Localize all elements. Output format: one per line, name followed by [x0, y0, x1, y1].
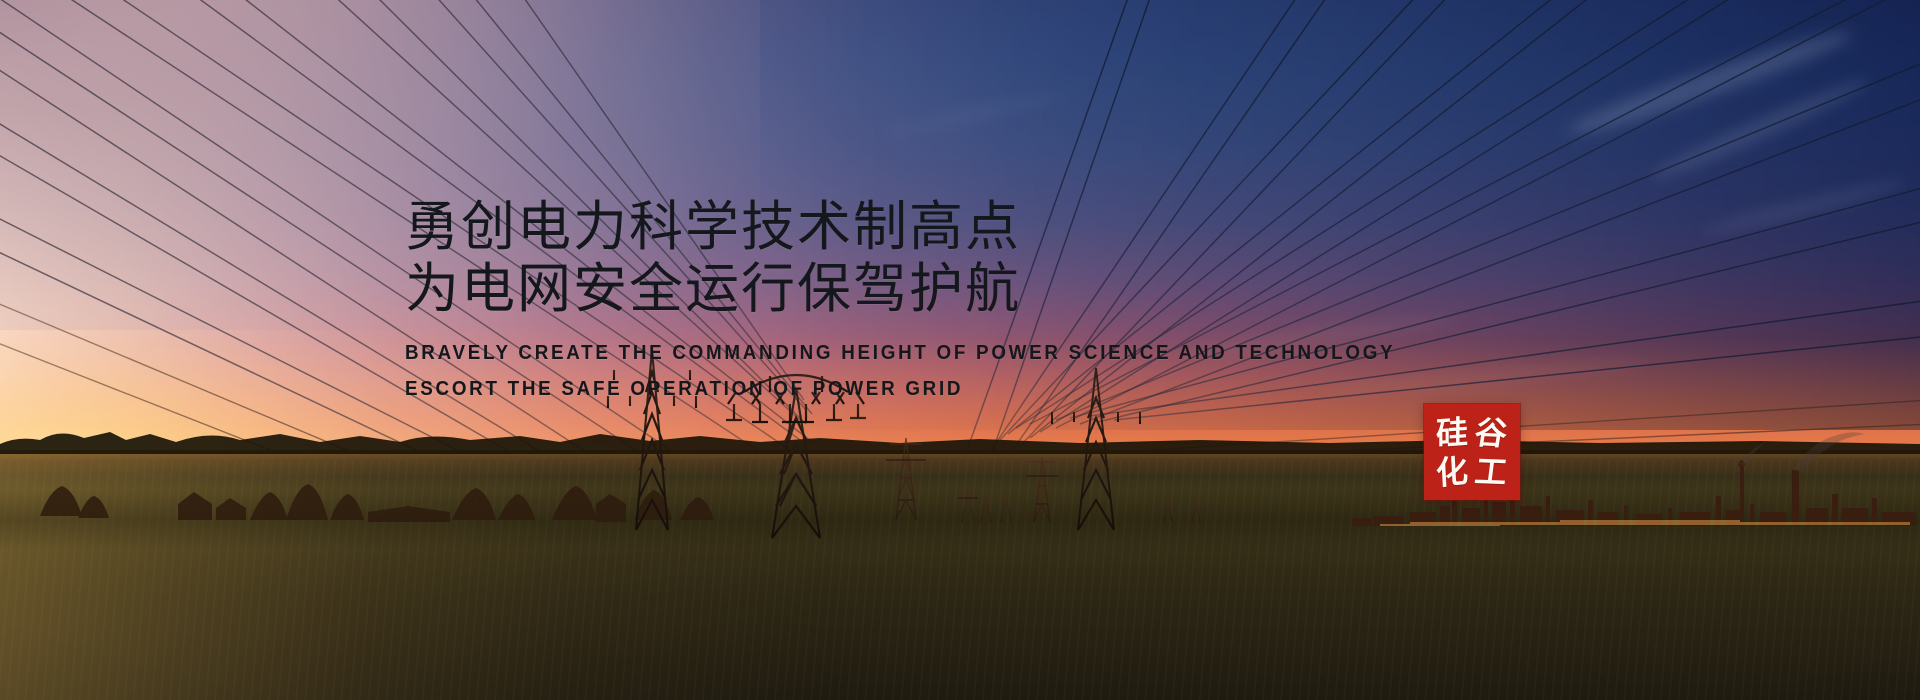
headline-line-2: 为电网安全运行保驾护航 — [405, 258, 1415, 320]
subtitle-line-1: BRAVELY CREATE THE COMMANDING HEIGHT OF … — [405, 336, 1354, 370]
company-logo-stamp[interactable]: 硅 谷 化 工 — [1424, 404, 1520, 500]
distant-transmission-towers — [886, 430, 1203, 522]
village-silhouette — [40, 484, 714, 522]
smokestack-plumes — [1740, 432, 1864, 472]
logo-glyph-4: 工 — [1474, 455, 1510, 488]
distant-poles — [1026, 502, 1206, 521]
subtitle-line-2: ESCORT THE SAFE OPERATION OF POWER GRID — [405, 372, 1354, 406]
logo-glyph-3: 化 — [1436, 454, 1470, 489]
hero-copy: 勇创电力科学技术制高点 为电网安全运行保驾护航 BRAVELY CREATE T… — [405, 196, 1415, 406]
logo-calligraphy: 硅 谷 化 工 — [1433, 413, 1511, 491]
headline-line-1: 勇创电力科学技术制高点 — [405, 196, 1415, 258]
hero-banner: 勇创电力科学技术制高点 为电网安全运行保驾护航 BRAVELY CREATE T… — [0, 0, 1920, 700]
logo-glyph-1: 硅 — [1437, 415, 1469, 449]
logo-glyph-2: 谷 — [1473, 416, 1510, 449]
